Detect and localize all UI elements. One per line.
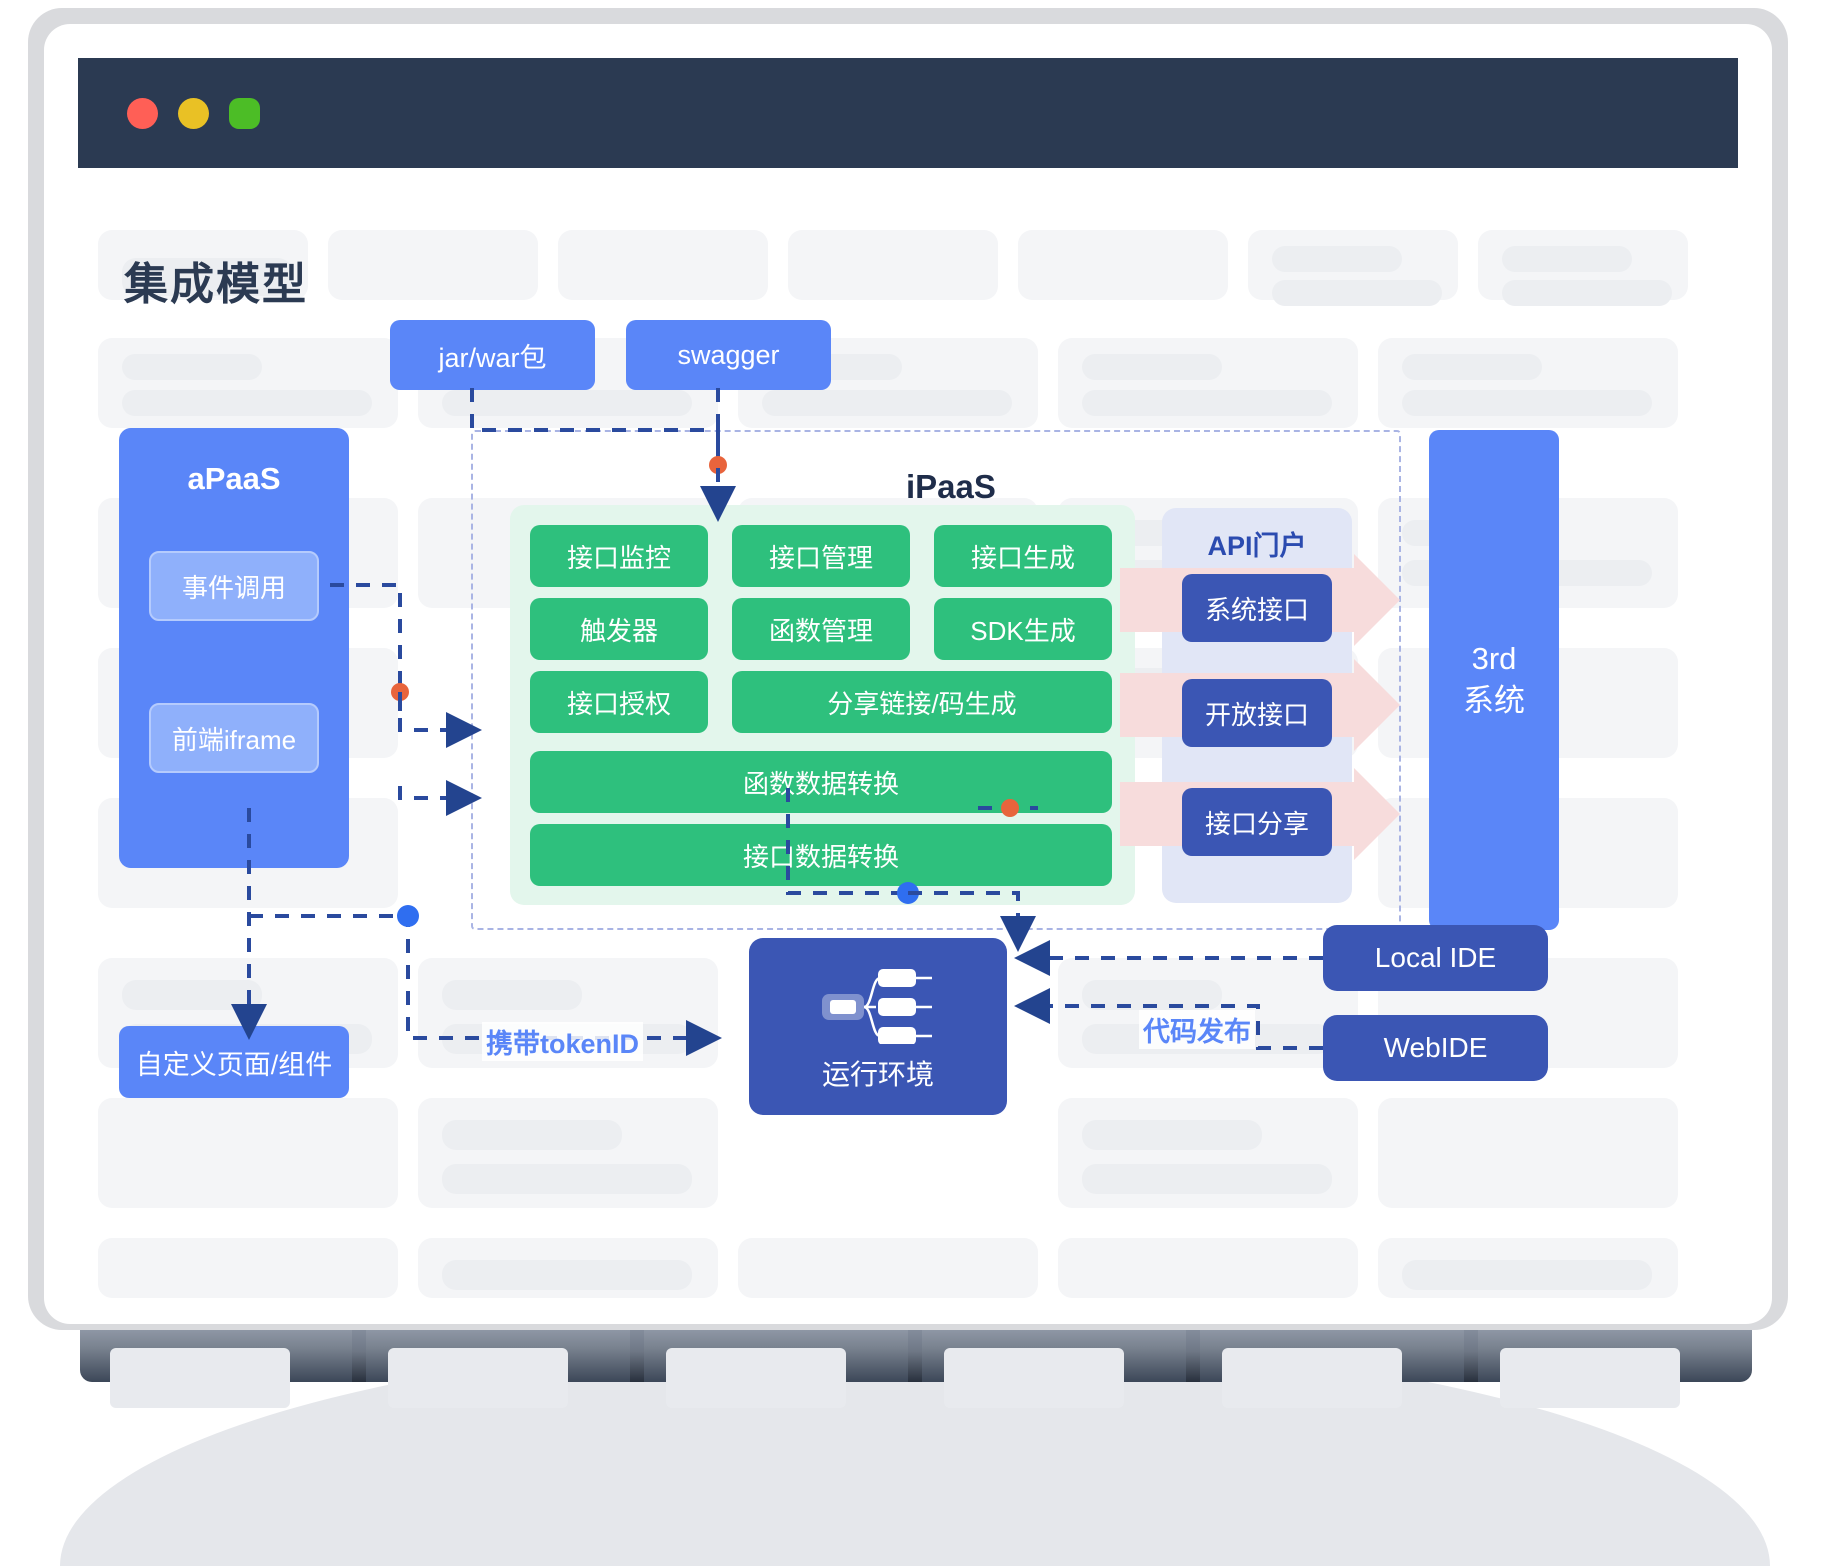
browser-titlebar — [78, 58, 1738, 168]
placeholder-pill — [1082, 980, 1222, 1010]
placeholder-bar — [788, 230, 998, 300]
cap-label: 触发器 — [580, 611, 658, 648]
browser-window: 集成模型 iPaaS API门户 — [78, 58, 1738, 1298]
maximize-button[interactable] — [229, 98, 260, 129]
placeholder-pill — [442, 1120, 622, 1150]
apaas-title: aPaaS — [119, 461, 349, 497]
page-title: 集成模型 — [124, 248, 308, 312]
ipaas-cap-sdk-generation[interactable]: SDK生成 — [934, 598, 1112, 660]
placeholder-bar — [558, 230, 768, 300]
placeholder-pill — [122, 390, 372, 416]
apaas-item-frontend-iframe-label: 前端iframe — [172, 720, 296, 757]
node-web-ide-label: WebIDE — [1384, 1032, 1488, 1064]
node-local-ide[interactable]: Local IDE — [1323, 925, 1548, 991]
flow-arrow-head-1 — [1354, 554, 1400, 646]
node-runtime-environment[interactable]: 运行环境 — [749, 938, 1007, 1115]
placeholder-pill — [1082, 390, 1332, 416]
cap-label: 函数管理 — [769, 611, 873, 648]
base-key-4 — [944, 1348, 1124, 1408]
edge-label-token: 携带tokenID — [482, 1022, 643, 1061]
placeholder-bar — [1378, 1098, 1678, 1208]
laptop-frame: 集成模型 iPaaS API门户 — [0, 0, 1830, 1397]
transform-label: 函数数据转换 — [743, 764, 899, 801]
ipaas-transform-function-data[interactable]: 函数数据转换 — [530, 751, 1112, 813]
flow-arrow-head-2 — [1354, 659, 1400, 751]
third-party-system[interactable]: 3rd 系统 — [1429, 430, 1559, 930]
placeholder-bar — [738, 1238, 1038, 1298]
cap-label: 接口管理 — [769, 538, 873, 575]
base-key-5 — [1222, 1348, 1402, 1408]
node-runtime-environment-label: 运行环境 — [749, 1053, 1007, 1093]
flow-arrow-head-3 — [1354, 768, 1400, 860]
placeholder-pill — [442, 1164, 692, 1194]
apaas-item-event-call-label: 事件调用 — [182, 568, 286, 605]
wire-event-to-func-transform — [400, 692, 458, 730]
placeholder-pill — [1082, 1120, 1262, 1150]
edge-label-deploy: 代码发布 — [1139, 1010, 1255, 1049]
node-jar-war[interactable]: jar/war包 — [390, 320, 595, 390]
node-custom-page-component[interactable]: 自定义页面/组件 — [119, 1026, 349, 1098]
placeholder-pill — [442, 1260, 692, 1290]
placeholder-bar — [98, 1238, 398, 1298]
placeholder-pill — [122, 980, 262, 1010]
node-web-ide[interactable]: WebIDE — [1323, 1015, 1548, 1081]
minimize-button[interactable] — [178, 98, 209, 129]
placeholder-pill — [1402, 1260, 1652, 1290]
ipaas-cap-interface-management[interactable]: 接口管理 — [732, 525, 910, 587]
api-portal-item-label: 系统接口 — [1205, 590, 1309, 627]
placeholder-pill — [442, 980, 582, 1010]
base-key-2 — [388, 1348, 568, 1408]
placeholder-bar — [98, 1098, 398, 1208]
transform-label: 接口数据转换 — [743, 837, 899, 874]
cap-label: 分享链接/码生成 — [827, 684, 1016, 721]
ipaas-cap-interface-authorization[interactable]: 接口授权 — [530, 671, 708, 733]
ipaas-cap-trigger[interactable]: 触发器 — [530, 598, 708, 660]
ipaas-cap-function-management[interactable]: 函数管理 — [732, 598, 910, 660]
placeholder-pill — [1272, 246, 1402, 272]
apaas-item-frontend-iframe[interactable]: 前端iframe — [149, 703, 319, 773]
api-portal-item-interface-share[interactable]: 接口分享 — [1182, 788, 1332, 856]
ipaas-transform-interface-data[interactable]: 接口数据转换 — [530, 824, 1112, 886]
api-portal-title: API门户 — [1162, 524, 1352, 563]
base-key-1 — [110, 1348, 290, 1408]
placeholder-pill — [1082, 354, 1222, 380]
base-key-6 — [1500, 1348, 1680, 1408]
placeholder-pill — [1402, 354, 1542, 380]
node-swagger-label: swagger — [677, 340, 779, 371]
placeholder-pill — [762, 390, 1012, 416]
ipaas-cap-interface-monitor[interactable]: 接口监控 — [530, 525, 708, 587]
diagram-canvas: 集成模型 iPaaS API门户 — [78, 168, 1738, 1298]
cap-label: SDK生成 — [970, 611, 1075, 648]
ipaas-title: iPaaS — [906, 468, 996, 506]
base-key-3 — [666, 1348, 846, 1408]
close-button[interactable] — [127, 98, 158, 129]
third-party-system-line1: 3rd — [1472, 638, 1517, 680]
placeholder-pill — [1502, 246, 1632, 272]
cap-label: 接口监控 — [567, 538, 671, 575]
mindmap-tree-icon — [820, 966, 936, 1049]
placeholder-pill — [1272, 280, 1442, 306]
junction-dot-blue — [397, 905, 419, 927]
apaas-item-event-call[interactable]: 事件调用 — [149, 551, 319, 621]
cap-label: 接口授权 — [567, 684, 671, 721]
node-local-ide-label: Local IDE — [1375, 942, 1496, 974]
placeholder-pill — [442, 390, 692, 416]
placeholder-bar — [1018, 230, 1228, 300]
placeholder-pill — [1082, 1164, 1332, 1194]
ipaas-cap-share-link-code[interactable]: 分享链接/码生成 — [732, 671, 1112, 733]
placeholder-bar — [1058, 1238, 1358, 1298]
cap-label: 接口生成 — [971, 538, 1075, 575]
node-jar-war-label: jar/war包 — [438, 336, 546, 375]
placeholder-bar — [328, 230, 538, 300]
placeholder-pill — [1402, 390, 1652, 416]
ipaas-cap-interface-generation[interactable]: 接口生成 — [934, 525, 1112, 587]
wire-iframe-to-api-transform — [400, 786, 458, 798]
api-portal-item-system-interface[interactable]: 系统接口 — [1182, 574, 1332, 642]
placeholder-pill — [1502, 280, 1672, 306]
third-party-system-line2: 系统 — [1463, 680, 1525, 722]
api-portal-item-label: 接口分享 — [1205, 804, 1309, 841]
api-portal-item-open-interface[interactable]: 开放接口 — [1182, 679, 1332, 747]
api-portal-item-label: 开放接口 — [1205, 695, 1309, 732]
placeholder-pill — [122, 354, 262, 380]
node-custom-page-label: 自定义页面/组件 — [136, 1043, 333, 1082]
node-swagger[interactable]: swagger — [626, 320, 831, 390]
